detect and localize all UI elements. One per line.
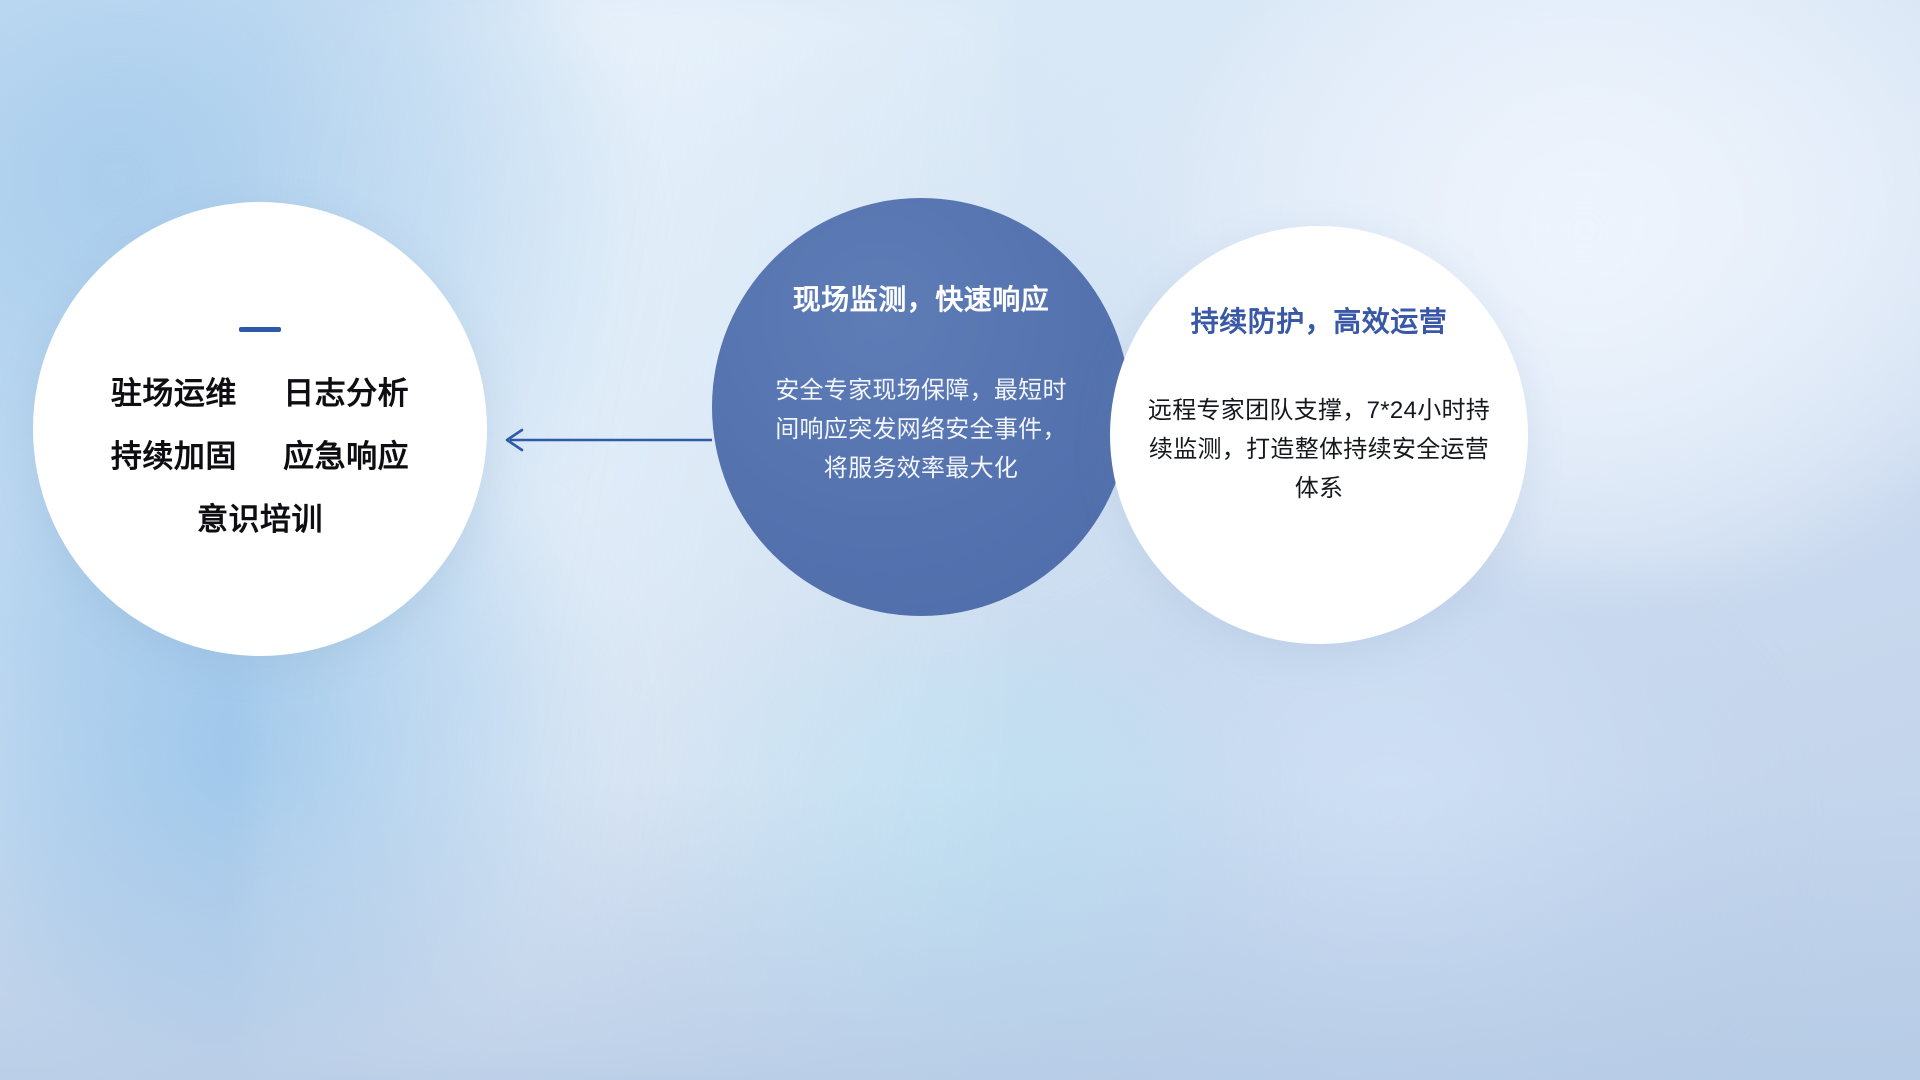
service-tag-zhuchang-yunwei: 驻场运维 [111, 376, 237, 411]
right-circle-body: 远程专家团队支撑，7*24小时持续监测，打造整体持续安全运营体系 [1144, 392, 1494, 509]
right-circle-title: 持续防护，高效运营 [1191, 308, 1448, 336]
mid-circle-title: 现场监测，快速响应 [793, 286, 1050, 314]
right-operations-circle[interactable]: 持续防护，高效运营 远程专家团队支撑，7*24小时持续监测，打造整体持续安全运营… [1110, 226, 1528, 644]
mid-onsite-circle[interactable]: 现场监测，快速响应 安全专家现场保障，最短时间响应突发网络安全事件，将服务效率最… [712, 198, 1130, 616]
service-line-2: 持续加固 应急响应 [111, 441, 409, 472]
service-line-3: 意识培训 [197, 504, 323, 535]
left-service-circle[interactable]: 驻场运维 日志分析 持续加固 应急响应 意识培训 [33, 202, 487, 656]
flow-arrow-icon [492, 422, 712, 458]
service-line-1: 驻场运维 日志分析 [111, 378, 409, 409]
background-bottom-fade [0, 780, 1920, 1080]
service-tag-chixu-jiagu: 持续加固 [111, 439, 237, 474]
flow-arrow [492, 422, 712, 458]
mid-circle-body: 安全专家现场保障，最短时间响应突发网络安全事件，将服务效率最大化 [771, 372, 1071, 489]
service-tag-rizhi-fenxi: 日志分析 [283, 376, 409, 411]
service-tag-yishi-peixun: 意识培训 [197, 502, 323, 537]
separator-dash [239, 327, 281, 332]
service-tag-yingji-xiangying: 应急响应 [283, 439, 409, 474]
